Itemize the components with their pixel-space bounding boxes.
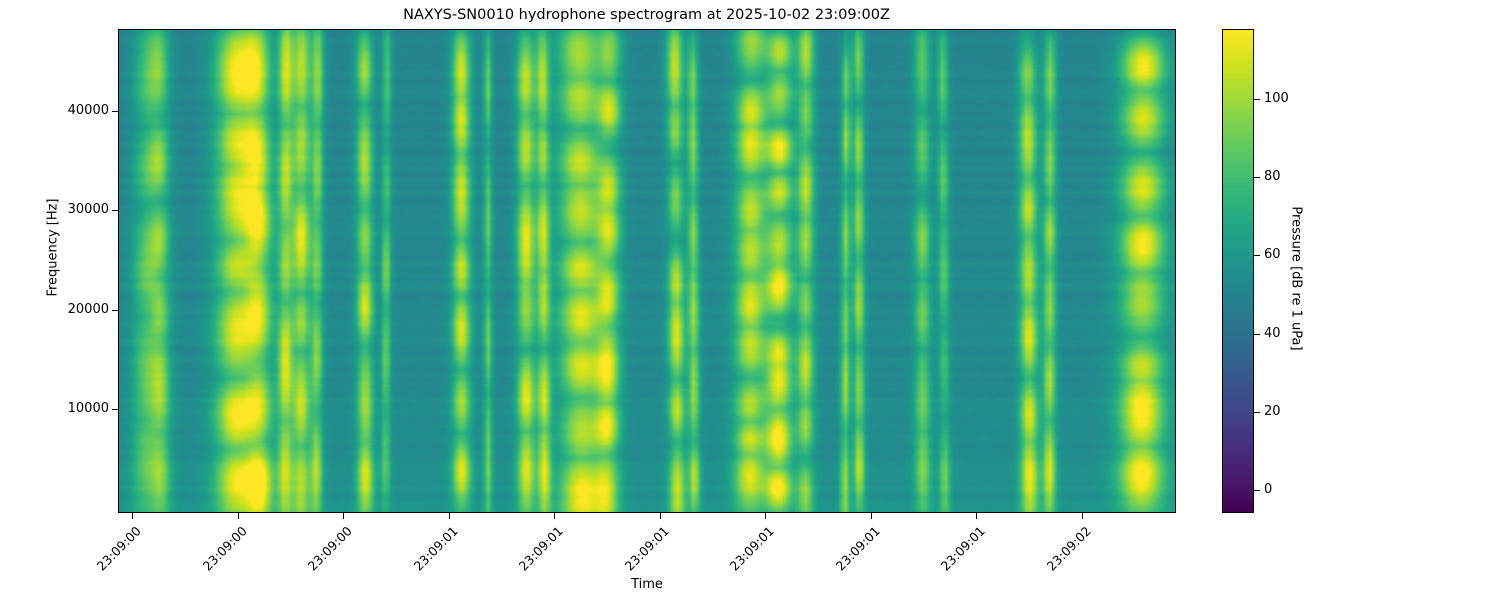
x-tick-label: 23:09:00: [92, 524, 144, 576]
x-tick-mark: [765, 513, 766, 519]
x-tick-label: 23:09:01: [725, 524, 777, 576]
colorbar-tick-mark: [1254, 177, 1260, 178]
x-tick-label: 23:09:01: [936, 524, 988, 576]
colorbar-tick-label: 20: [1264, 405, 1281, 418]
colorbar-tick-mark: [1254, 255, 1260, 256]
x-axis-label: Time: [118, 577, 1176, 592]
y-tick-label: 40000: [68, 104, 109, 117]
x-tick-label: 23:09:01: [409, 524, 461, 576]
x-tick-mark: [871, 513, 872, 519]
x-tick-mark: [660, 513, 661, 519]
colorbar-tick-mark: [1254, 99, 1260, 100]
y-tick-mark: [112, 210, 118, 211]
y-tick-mark: [112, 111, 118, 112]
x-tick-label: 23:09:02: [1042, 524, 1094, 576]
colorbar-label: Pressure [dB re 1 uPa]: [1289, 179, 1304, 379]
colorbar-tick-mark: [1254, 412, 1260, 413]
x-tick-mark: [449, 513, 450, 519]
x-tick-label: 23:09:00: [198, 524, 250, 576]
colorbar-tick-label: 60: [1264, 248, 1281, 261]
spectrogram-plot-area[interactable]: [118, 29, 1176, 513]
colorbar-tick-label: 100: [1264, 92, 1289, 105]
x-tick-mark: [554, 513, 555, 519]
x-tick-mark: [976, 513, 977, 519]
colorbar-tick-label: 0: [1264, 483, 1272, 496]
colorbar-tick-mark: [1254, 490, 1260, 491]
y-axis-label: Frequency [Hz]: [46, 148, 61, 348]
x-tick-label: 23:09:01: [620, 524, 672, 576]
colorbar-gradient: [1223, 30, 1253, 512]
y-tick-label: 20000: [68, 303, 109, 316]
y-tick-label: 30000: [68, 203, 109, 216]
y-tick-mark: [112, 409, 118, 410]
y-tick-mark: [112, 310, 118, 311]
colorbar-tick-label: 40: [1264, 327, 1281, 340]
x-tick-mark: [1082, 513, 1083, 519]
colorbar-tick-mark: [1254, 334, 1260, 335]
page-title: NAXYS-SN0010 hydrophone spectrogram at 2…: [0, 6, 1293, 24]
x-tick-label: 23:09:01: [831, 524, 883, 576]
x-tick-mark: [343, 513, 344, 519]
x-tick-mark: [238, 513, 239, 519]
colorbar-tick-label: 80: [1264, 170, 1281, 183]
y-tick-label: 10000: [68, 402, 109, 415]
x-tick-label: 23:09:01: [514, 524, 566, 576]
x-tick-label: 23:09:00: [303, 524, 355, 576]
spectrogram-image: [119, 30, 1175, 512]
spectrogram-figure: NAXYS-SN0010 hydrophone spectrogram at 2…: [0, 0, 1500, 600]
x-tick-mark: [132, 513, 133, 519]
colorbar[interactable]: [1222, 29, 1254, 513]
